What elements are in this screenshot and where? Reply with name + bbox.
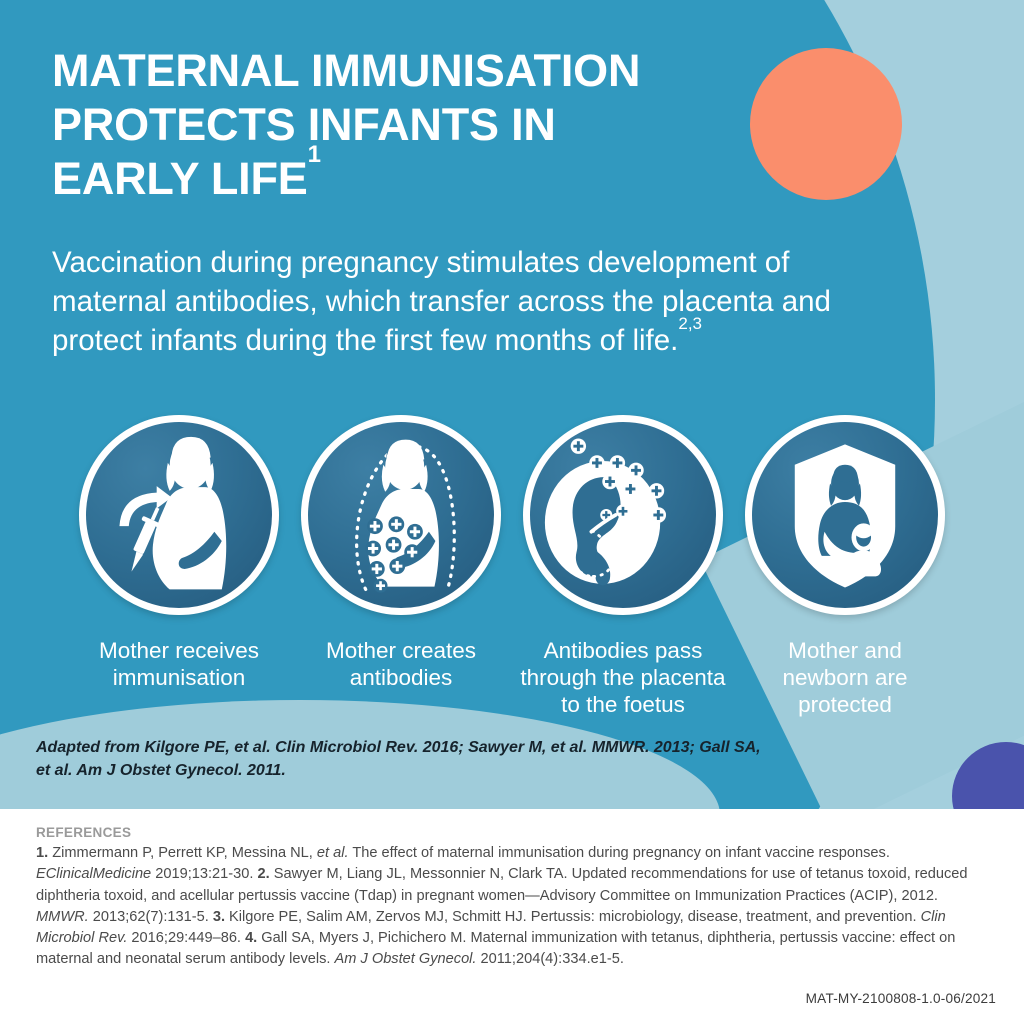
pregnant-woman-syringe-icon <box>86 422 272 608</box>
step-antibodies-pass-placenta: Antibodies pass through the placenta to … <box>512 415 734 718</box>
step-1-circle <box>79 415 279 615</box>
references-panel: REFERENCES 1. Zimmermann P, Perrett KP, … <box>0 809 1024 1024</box>
subtitle: Vaccination during pregnancy stimulates … <box>52 243 897 361</box>
infographic-poster: MATERNAL IMMUNISATION PROTECTS INFANTS I… <box>0 0 1024 1024</box>
step-2-circle <box>301 415 501 615</box>
step-4-label: Mother and newborn are protected <box>782 637 907 718</box>
foetus-antibodies-icon <box>530 422 716 608</box>
pregnant-woman-antibodies-icon <box>308 422 494 608</box>
reference-1-number: 1. <box>36 845 48 861</box>
references-heading: REFERENCES <box>36 825 131 840</box>
step-2-label: Mother creates antibodies <box>326 637 476 691</box>
step-mother-creates-antibodies: Mother creates antibodies <box>290 415 512 691</box>
material-code: MAT-MY-2100808-1.0-06/2021 <box>806 991 996 1006</box>
references-body: 1. Zimmermann P, Perrett KP, Messina NL,… <box>36 843 994 971</box>
shield-mother-baby-icon <box>752 422 938 608</box>
headline-line-2: PROTECTS INFANTS IN <box>52 99 556 150</box>
step-mother-receives-immunisation: Mother receives immunisation <box>68 415 290 691</box>
headline-line-1: MATERNAL IMMUNISATION <box>52 45 640 96</box>
step-4-circle <box>745 415 945 615</box>
step-3-circle <box>523 415 723 615</box>
step-3-label: Antibodies pass through the placenta to … <box>503 637 743 718</box>
step-1-label: Mother receives immunisation <box>99 637 259 691</box>
process-steps: Mother receives immunisation <box>0 415 1024 718</box>
subtitle-reference-marker: 2,3 <box>678 314 702 333</box>
subtitle-text: Vaccination during pregnancy stimulates … <box>52 246 831 357</box>
headline-reference-marker: 1 <box>308 141 321 168</box>
step-mother-newborn-protected: Mother and newborn are protected <box>734 415 956 718</box>
reference-3-number: 3. <box>213 909 225 925</box>
page-title: MATERNAL IMMUNISATION PROTECTS INFANTS I… <box>52 44 752 206</box>
headline-line-3: EARLY LIFE <box>52 153 308 204</box>
reference-2-number: 2. <box>258 866 270 882</box>
reference-4-number: 4. <box>245 930 257 946</box>
adapted-from-note: Adapted from Kilgore PE, et al. Clin Mic… <box>36 737 776 782</box>
